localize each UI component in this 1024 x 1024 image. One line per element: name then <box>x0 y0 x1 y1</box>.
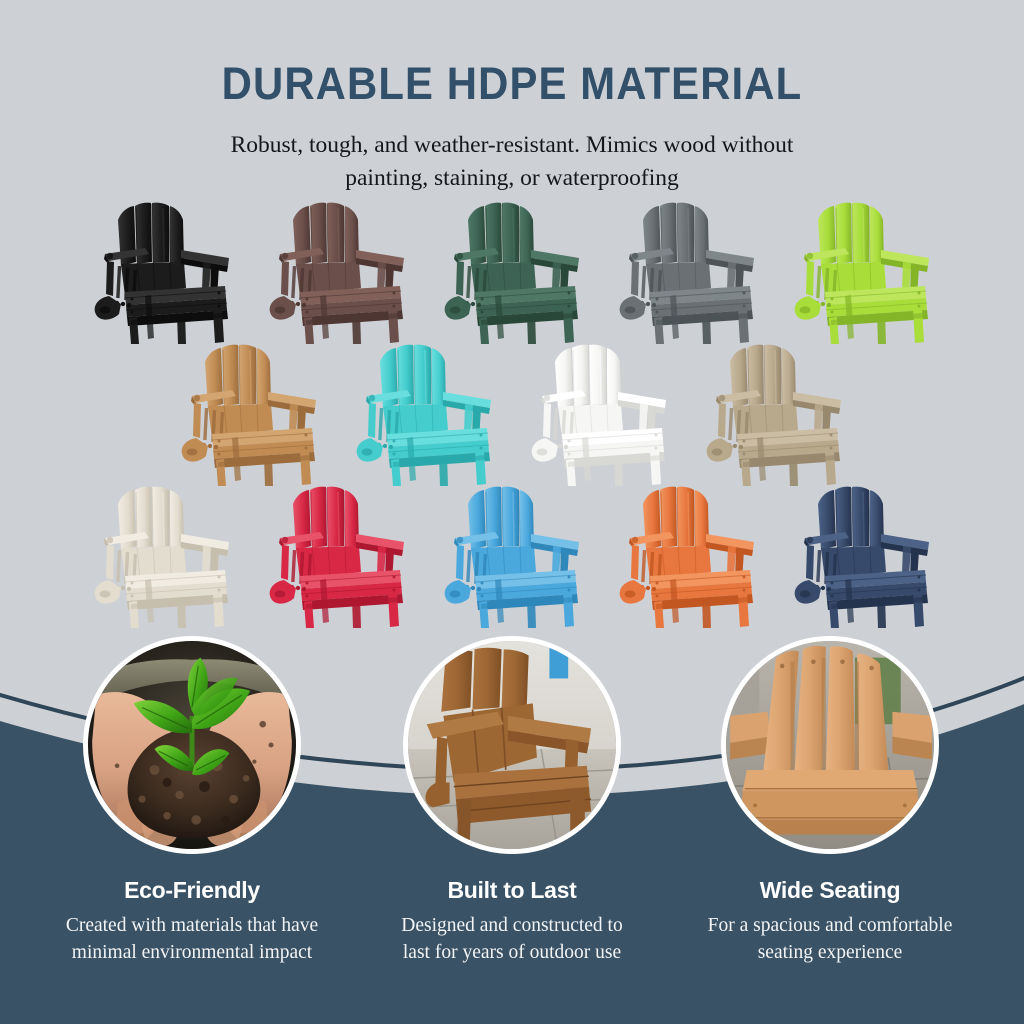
feature-desc-line-2: seating experience <box>674 940 986 967</box>
chair-swatch-teak[interactable] <box>172 334 327 486</box>
feature-desc-line-1: Created with materials that have <box>36 913 348 940</box>
chair-row-2 <box>0 334 1024 486</box>
infographic-root: DURABLE HDPE MATERIAL Robust, tough, and… <box>0 0 1024 1024</box>
chair-swatch-gray[interactable] <box>610 192 765 344</box>
feature-desc-line-2: minimal environmental impact <box>36 940 348 967</box>
chair-row-3 <box>0 476 1024 628</box>
chair-swatch-white[interactable] <box>522 334 677 486</box>
chair-swatch-ivory[interactable] <box>85 476 240 628</box>
feature-desc-line-1: Designed and constructed to <box>356 913 668 940</box>
feature-description: Designed and constructed to last for yea… <box>350 913 674 967</box>
feature-desc-line-2: last for years of outdoor use <box>356 940 668 967</box>
header: DURABLE HDPE MATERIAL Robust, tough, and… <box>0 0 1024 196</box>
subtitle-line-2: painting, staining, or waterproofing <box>0 162 1024 195</box>
feature-title: Built to Last <box>350 877 674 904</box>
feature-description: For a spacious and comfortable seating e… <box>668 913 992 967</box>
chair-swatch-turquoise[interactable] <box>347 334 502 486</box>
feature-title: Eco-Friendly <box>30 877 354 904</box>
feature-desc-line-1: For a spacious and comfortable <box>674 913 986 940</box>
feature-description: Created with materials that have minimal… <box>30 913 354 967</box>
feature-built-to-last: Built to Last Designed and constructed t… <box>350 636 674 967</box>
chair-row-1 <box>0 192 1024 344</box>
chair-swatch-brown[interactable] <box>260 192 415 344</box>
feature-title: Wide Seating <box>668 877 992 904</box>
chair-swatch-dark-green[interactable] <box>435 192 590 344</box>
page-subtitle: Robust, tough, and weather-resistant. Mi… <box>0 129 1024 196</box>
feature-image-eco-friendly <box>83 636 301 854</box>
subtitle-line-1: Robust, tough, and weather-resistant. Mi… <box>0 129 1024 162</box>
feature-eco-friendly: Eco-Friendly Created with materials that… <box>30 636 354 967</box>
chair-swatch-blue[interactable] <box>435 476 590 628</box>
feature-image-built-to-last <box>403 636 621 854</box>
chair-color-grid <box>0 192 1024 628</box>
feature-wide-seating: Wide Seating For a spacious and comforta… <box>668 636 992 967</box>
feature-image-wide-seating <box>721 636 939 854</box>
feature-list: Eco-Friendly Created with materials that… <box>0 636 1024 1024</box>
page-title: DURABLE HDPE MATERIAL <box>36 58 988 110</box>
chair-swatch-weathered-wood[interactable] <box>697 334 852 486</box>
chair-swatch-lime-green[interactable] <box>785 192 940 344</box>
chair-swatch-red[interactable] <box>260 476 415 628</box>
chair-swatch-orange[interactable] <box>610 476 765 628</box>
chair-swatch-navy-blue[interactable] <box>785 476 940 628</box>
chair-swatch-black[interactable] <box>85 192 240 344</box>
